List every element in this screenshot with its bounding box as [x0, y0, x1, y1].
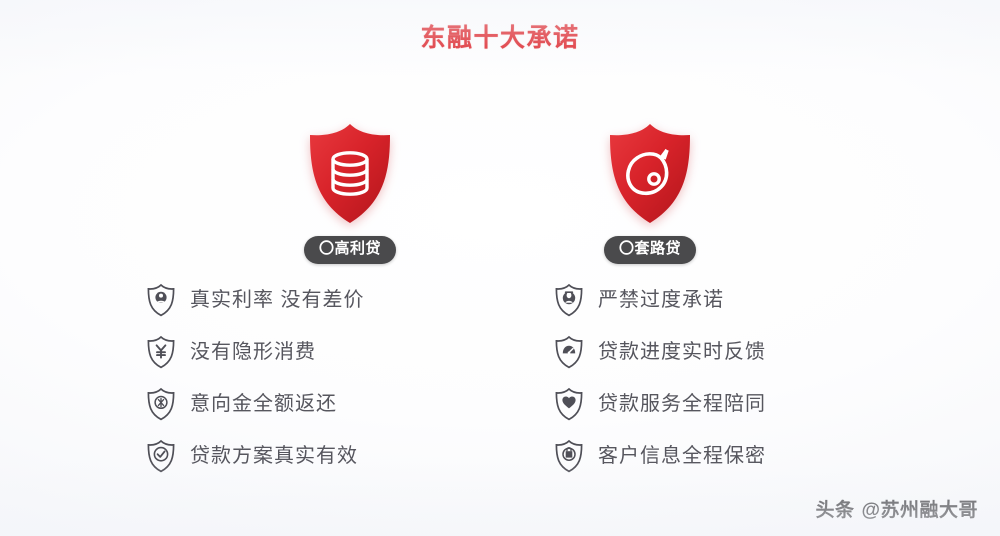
list-item: 客户信息全程保密 [554, 439, 854, 473]
lasso-trap-icon [604, 122, 696, 226]
yuan-shield-icon [146, 335, 176, 369]
badge-no-usury: 〇高利贷 [275, 122, 425, 264]
promise-text: 真实利率 没有差价 [190, 288, 365, 312]
promise-column-right: 严禁过度承诺 贷款进度实时反馈 [554, 283, 854, 473]
list-item: 严禁过度承诺 [554, 283, 854, 317]
badge-label-no-usury: 〇高利贷 [304, 236, 396, 264]
badge-label-no-loan-scam: 〇套路贷 [604, 236, 696, 264]
return-shield-icon [146, 387, 176, 421]
lock-shield-icon [554, 439, 584, 473]
list-item: 意向金全额返还 [146, 387, 446, 421]
list-item: 没有隐形消费 [146, 335, 446, 369]
megaphone-shield-icon [554, 283, 584, 317]
badge-no-loan-scam: 〇套路贷 [575, 122, 725, 264]
watermark: 头条 @苏州融大哥 [815, 495, 978, 522]
coin-stack-icon [304, 122, 396, 226]
promise-poster: 东融十大承诺 [0, 0, 1000, 536]
promise-text: 没有隐形消费 [190, 340, 316, 364]
speed-shield-icon [554, 335, 584, 369]
list-item: 贷款方案真实有效 [146, 439, 446, 473]
badge-row: 〇高利贷 [0, 122, 1000, 264]
page-title: 东融十大承诺 [0, 24, 1000, 53]
watermark-handle: @苏州融大哥 [861, 495, 978, 522]
promise-text: 严禁过度承诺 [598, 288, 724, 312]
promise-text: 贷款进度实时反馈 [598, 340, 766, 364]
list-item: 贷款进度实时反馈 [554, 335, 854, 369]
watermark-platform: 头条 [815, 495, 854, 522]
promise-text: 贷款服务全程陪同 [598, 392, 766, 416]
list-item: 贷款服务全程陪同 [554, 387, 854, 421]
check-shield-icon [146, 439, 176, 473]
heart-shield-icon [554, 387, 584, 421]
list-item: 真实利率 没有差价 [146, 283, 446, 317]
promise-text: 客户信息全程保密 [598, 444, 766, 468]
promise-text: 贷款方案真实有效 [190, 444, 358, 468]
user-shield-icon [146, 283, 176, 317]
promise-text: 意向金全额返还 [190, 392, 337, 416]
promise-column-left: 真实利率 没有差价 没有隐形消费 [146, 283, 446, 473]
promise-lists: 真实利率 没有差价 没有隐形消费 [0, 283, 1000, 473]
